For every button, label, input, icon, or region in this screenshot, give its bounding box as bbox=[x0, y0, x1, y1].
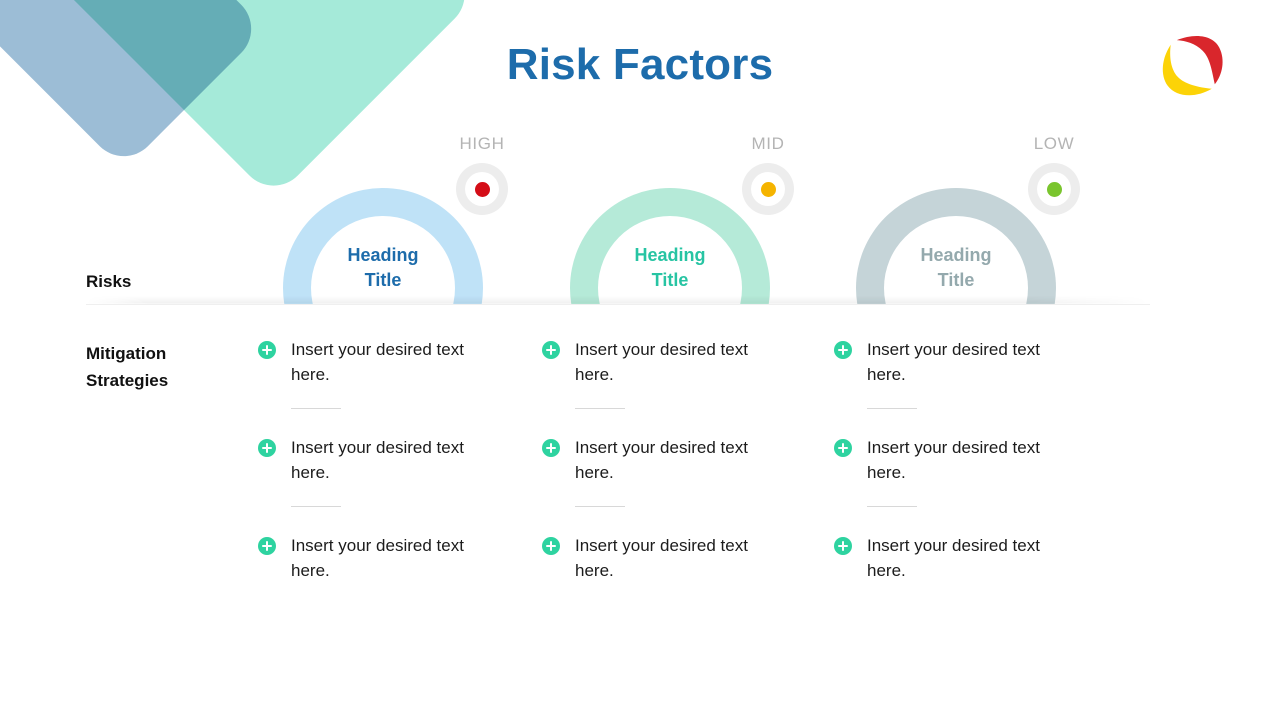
list-item-text: Insert your desired text here. bbox=[575, 337, 760, 387]
list-item[interactable]: Insert your desired text here. bbox=[834, 435, 1064, 533]
arc-heading-low: Heading Title bbox=[856, 243, 1056, 293]
list-item[interactable]: Insert your desired text here. bbox=[834, 533, 1064, 631]
list-item[interactable]: Insert your desired text here. bbox=[542, 337, 772, 435]
list-item-text: Insert your desired text here. bbox=[291, 533, 476, 583]
list-item[interactable]: Insert your desired text here. bbox=[542, 435, 772, 533]
arc-heading-line1: Heading bbox=[570, 243, 770, 268]
list-item-divider bbox=[867, 408, 917, 409]
status-badge-low[interactable] bbox=[1028, 163, 1080, 215]
plus-circle-icon[interactable] bbox=[258, 341, 276, 359]
green-dot-icon bbox=[1047, 182, 1062, 197]
list-item[interactable]: Insert your desired text here. bbox=[834, 337, 1064, 435]
plus-circle-icon[interactable] bbox=[542, 537, 560, 555]
decorative-rect-mint bbox=[47, 0, 478, 200]
row-label-risks: Risks bbox=[86, 268, 131, 295]
list-item[interactable]: Insert your desired text here. bbox=[542, 533, 772, 631]
row-label-mitigation-line2: Strategies bbox=[86, 367, 246, 394]
list-item-text: Insert your desired text here. bbox=[291, 337, 476, 387]
list-item-divider bbox=[575, 506, 625, 507]
brand-logo-icon bbox=[1154, 28, 1230, 104]
plus-circle-icon[interactable] bbox=[258, 439, 276, 457]
list-item-text: Insert your desired text here. bbox=[575, 533, 760, 583]
bullet-column-mid: Insert your desired text here. Insert yo… bbox=[542, 337, 772, 631]
badge-inner bbox=[751, 172, 785, 206]
arc-heading-mid: Heading Title bbox=[570, 243, 770, 293]
arc-heading-high: Heading Title bbox=[283, 243, 483, 293]
list-item[interactable]: Insert your desired text here. bbox=[258, 435, 488, 533]
level-label-low: LOW bbox=[1009, 134, 1099, 154]
status-badge-high[interactable] bbox=[456, 163, 508, 215]
plus-circle-icon[interactable] bbox=[834, 537, 852, 555]
arc-heading-line2: Title bbox=[283, 268, 483, 293]
list-item-text: Insert your desired text here. bbox=[867, 435, 1052, 485]
row-label-mitigation-line1: Mitigation bbox=[86, 340, 246, 367]
plus-circle-icon[interactable] bbox=[542, 439, 560, 457]
plus-circle-icon[interactable] bbox=[834, 341, 852, 359]
bullet-column-high: Insert your desired text here. Insert yo… bbox=[258, 337, 488, 631]
list-item-divider bbox=[867, 506, 917, 507]
list-item-text: Insert your desired text here. bbox=[867, 337, 1052, 387]
slide-risk-factors: Risk Factors HIGH MID LOW bbox=[0, 0, 1280, 720]
list-item-text: Insert your desired text here. bbox=[575, 435, 760, 485]
page-title: Risk Factors bbox=[0, 40, 1280, 90]
level-label-mid: MID bbox=[723, 134, 813, 154]
list-item[interactable]: Insert your desired text here. bbox=[258, 337, 488, 435]
plus-circle-icon[interactable] bbox=[542, 341, 560, 359]
list-item-divider bbox=[291, 506, 341, 507]
yellow-dot-icon bbox=[761, 182, 776, 197]
badge-inner bbox=[465, 172, 499, 206]
row-label-mitigation-strategies: Mitigation Strategies bbox=[86, 340, 246, 394]
red-dot-icon bbox=[475, 182, 490, 197]
bullet-column-low: Insert your desired text here. Insert yo… bbox=[834, 337, 1064, 631]
list-item-divider bbox=[575, 408, 625, 409]
arc-heading-line1: Heading bbox=[283, 243, 483, 268]
section-divider-line bbox=[86, 304, 1150, 305]
plus-circle-icon[interactable] bbox=[258, 537, 276, 555]
arc-heading-line1: Heading bbox=[856, 243, 1056, 268]
status-badge-mid[interactable] bbox=[742, 163, 794, 215]
level-label-high: HIGH bbox=[437, 134, 527, 154]
list-item-divider bbox=[291, 408, 341, 409]
arc-heading-line2: Title bbox=[570, 268, 770, 293]
badge-inner bbox=[1037, 172, 1071, 206]
list-item[interactable]: Insert your desired text here. bbox=[258, 533, 488, 631]
list-item-text: Insert your desired text here. bbox=[291, 435, 476, 485]
plus-circle-icon[interactable] bbox=[834, 439, 852, 457]
arc-heading-line2: Title bbox=[856, 268, 1056, 293]
list-item-text: Insert your desired text here. bbox=[867, 533, 1052, 583]
